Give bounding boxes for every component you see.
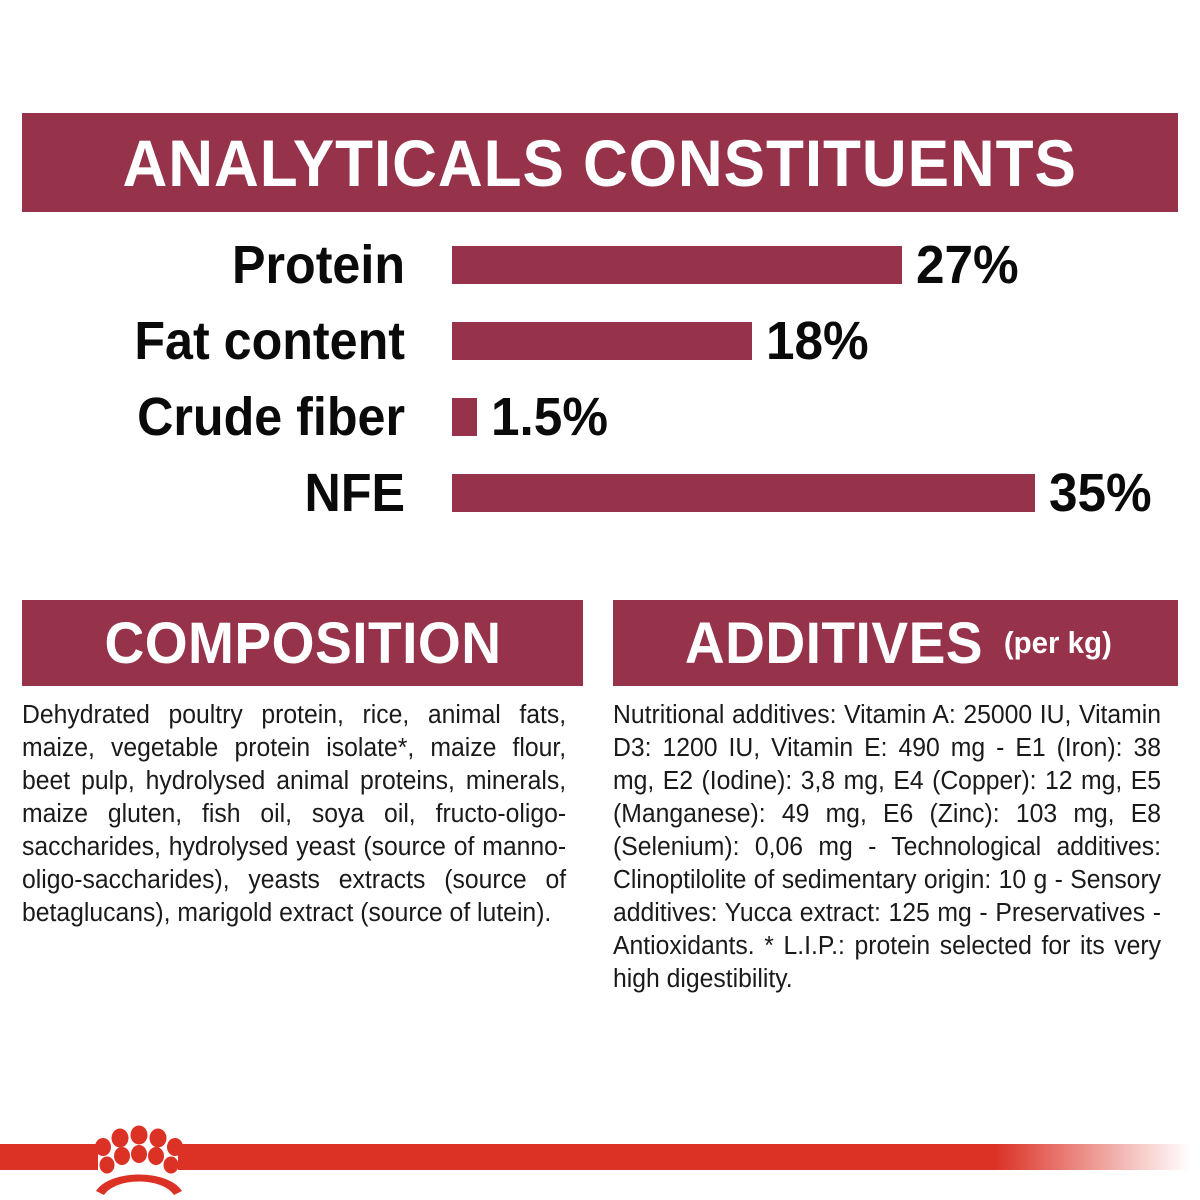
bar-row: Crude fiber1.5% [0,388,1200,446]
additives-per-kg-label: (per kg) [1003,625,1111,661]
footer-stripe-left [0,1144,98,1170]
composition-column: COMPOSITION Dehydrated poultry protein, … [22,600,583,930]
page-title: ANALYTICALS CONSTITUENTS [123,125,1077,201]
bar-row: Fat content18% [0,312,1200,370]
bar-fill [452,474,1035,512]
bar-value: 35% [1049,466,1152,520]
bar-track: 35% [452,466,1157,520]
bar-value: 27% [916,238,1019,292]
additives-text: Nutritional additives: Vitamin A: 25000 … [613,699,1161,996]
bar-row: Protein27% [0,236,1200,294]
footer [0,1125,1200,1200]
bar-label: Crude fiber [28,390,405,444]
royal-canin-crown-icon [92,1125,186,1197]
bar-row: NFE35% [0,464,1200,522]
bar-track: 18% [452,314,874,368]
additives-column: ADDITIVES (per kg) Nutritional additives… [613,600,1178,996]
composition-heading: COMPOSITION [104,610,501,677]
footer-stripe-right [178,1144,1200,1170]
bar-label: NFE [28,466,405,520]
bar-track: 1.5% [452,390,614,444]
additives-banner: ADDITIVES (per kg) [613,600,1178,686]
composition-text: Dehydrated poultry protein, rice, animal… [22,699,566,930]
composition-banner: COMPOSITION [22,600,583,686]
analyticals-constituents-banner: ANALYTICALS CONSTITUENTS [22,113,1178,212]
bar-value: 18% [766,314,869,368]
analyticals-bar-chart: Protein27%Fat content18%Crude fiber1.5%N… [0,236,1200,536]
bar-fill [452,322,752,360]
bar-label: Fat content [28,314,405,368]
bar-track: 27% [452,238,1024,292]
bar-value: 1.5% [491,390,608,444]
bar-fill [452,246,902,284]
bar-label: Protein [28,238,405,292]
additives-heading: ADDITIVES [685,610,983,677]
bar-fill [452,398,477,436]
